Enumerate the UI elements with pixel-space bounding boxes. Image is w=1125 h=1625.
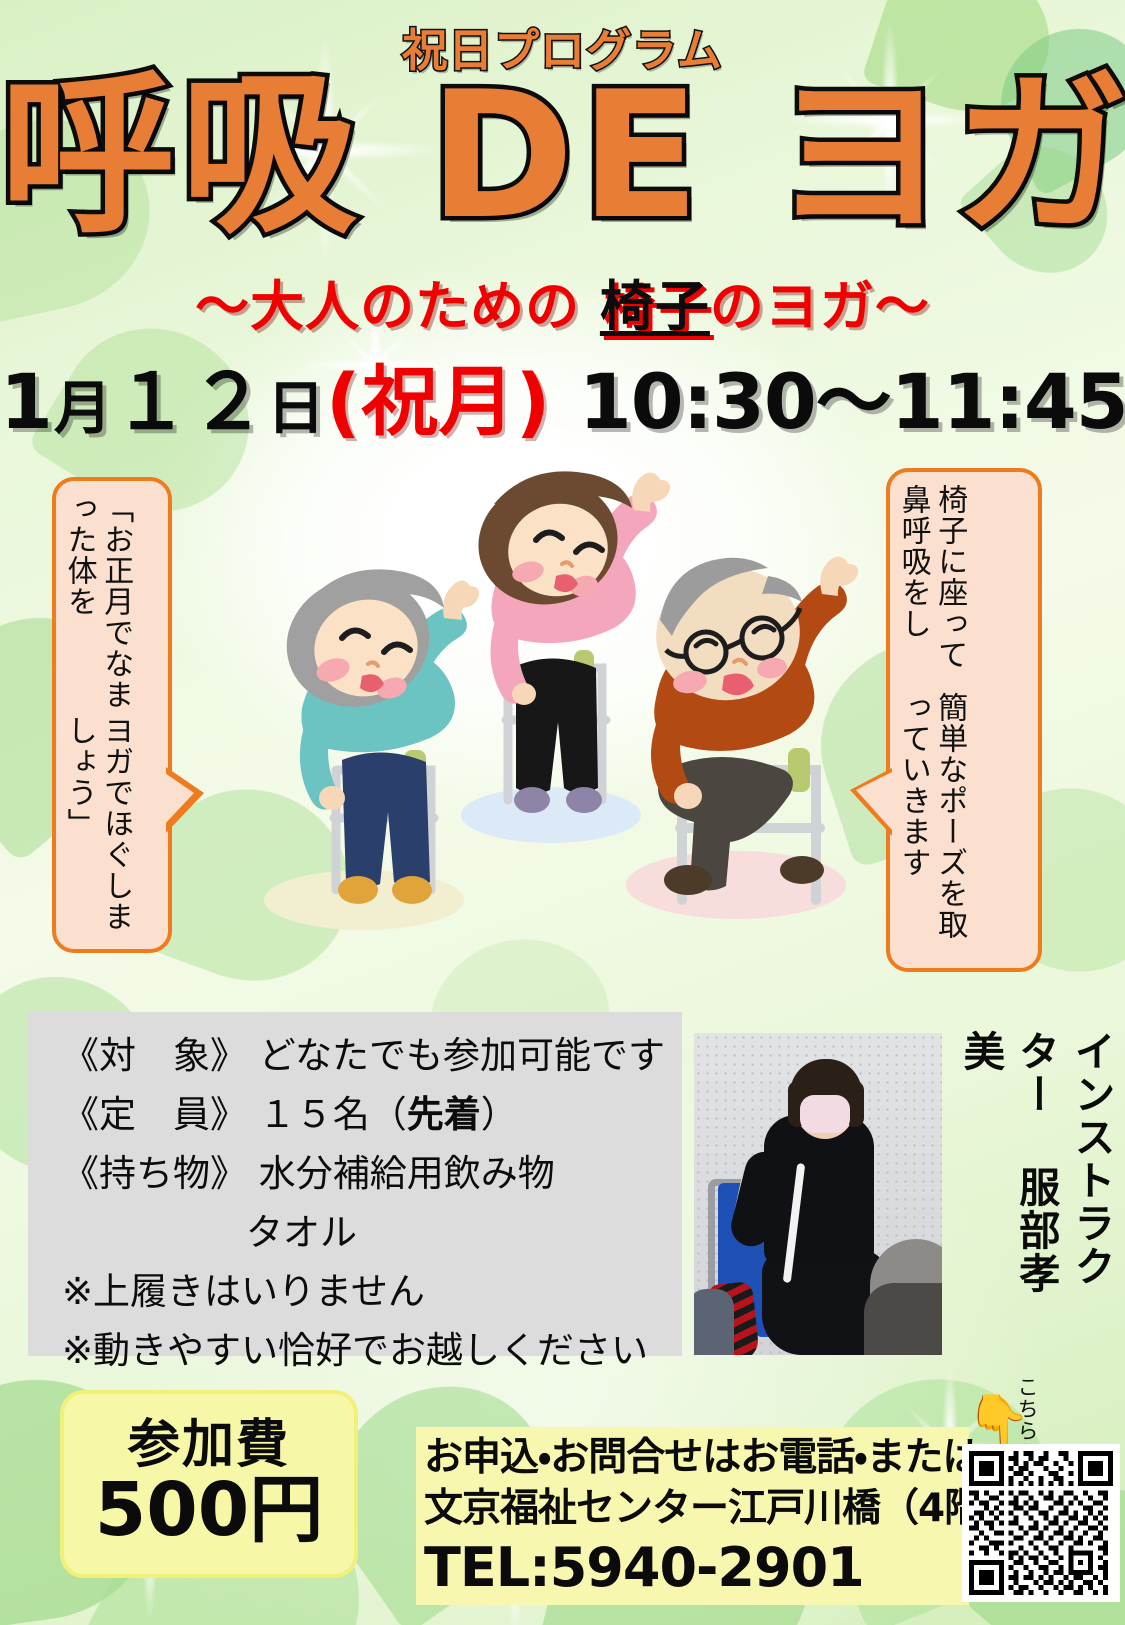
event-month-unit: 月: [54, 374, 113, 442]
chair-yoga-illustration: [216, 470, 892, 970]
speech-bubble-left-text: 「お正月でなまった体を ヨガでほぐしましょう」: [56, 481, 139, 949]
fee-value: 500円: [95, 1472, 323, 1550]
event-day-unit: 日: [267, 374, 326, 442]
instructor-caption: インストラクター 服部孝美: [952, 1030, 1118, 1330]
qr-code[interactable]: [962, 1444, 1120, 1602]
person-center: [465, 470, 670, 813]
info-value-capacity-tail: ）: [481, 1093, 518, 1136]
info-row-bring: 《持ち物》 水分補給用飲み物: [28, 1144, 682, 1203]
info-label-bring: 《持ち物》: [62, 1152, 247, 1195]
person-left: [270, 559, 479, 904]
info-note-2: ※動きやすい恰好でお越しください: [28, 1321, 682, 1380]
info-note-1: ※上履きはいりません: [28, 1262, 682, 1321]
subtitle-emphasis: 椅子: [600, 275, 710, 338]
info-row-target: 《対 象》 どなたでも参加可能です: [28, 1026, 682, 1085]
info-row-capacity: 《定 員》 １５名（先着）: [28, 1085, 682, 1144]
speech-bubble-right: 椅子に座って鼻呼吸をし 簡単なポーズを取っていきます: [886, 468, 1042, 972]
speech-bubble-left-tail: [166, 767, 204, 833]
event-time: 10:30〜11:45: [579, 357, 1125, 446]
info-label-capacity: 《定 員》: [62, 1093, 247, 1136]
fee-label: 参加費: [128, 1418, 290, 1473]
info-label-target: 《対 象》: [62, 1034, 247, 1077]
person-right: [646, 556, 859, 900]
contact-line-2: 文京福祉センター江戸川橋（4階）: [424, 1484, 969, 1535]
info-value-capacity-bold: 先着: [407, 1093, 481, 1136]
contact-phone: TEL:5940-2901: [424, 1534, 969, 1602]
event-day: １２: [113, 357, 267, 446]
info-row-bring-2: タオル: [28, 1203, 682, 1262]
subtitle: 〜大人のための 椅子のヨガ〜: [0, 262, 1125, 341]
event-month: 1: [0, 357, 54, 446]
photo-face-mask: [800, 1095, 850, 1133]
instructor-photo: [694, 1033, 942, 1355]
photo-audience-2: [694, 1289, 734, 1355]
bubble-left-col-2: ヨガでほぐしましょう」: [60, 715, 133, 937]
info-value-bring: 水分補給用飲み物: [259, 1152, 555, 1195]
bubble-right-col-2: 簡単なポーズを取っていきます: [894, 692, 967, 956]
fee-box: 参加費 500円: [60, 1390, 358, 1578]
speech-bubble-right-text: 椅子に座って鼻呼吸をし 簡単なポーズを取っていきます: [890, 472, 973, 968]
info-value-target: どなたでも参加可能です: [259, 1034, 665, 1077]
bubble-left-col-1: 「お正月でなまった体を: [60, 493, 133, 715]
subtitle-part-2: のヨガ〜: [710, 275, 930, 338]
info-value-capacity: １５名（: [259, 1093, 407, 1136]
bubble-right-col-1: 椅子に座って鼻呼吸をし: [894, 484, 967, 692]
chair-yoga-svg: [216, 470, 892, 970]
contact-box: お申込・お問合せはお電話・または 文京福祉センター江戸川橋（4階） TEL:59…: [416, 1427, 969, 1605]
photo-audience-body: [864, 1283, 942, 1355]
contact-line-1: お申込・お問合せはお電話・または: [424, 1433, 969, 1484]
event-info-box: 《対 象》 どなたでも参加可能です 《定 員》 １５名（先着） 《持ち物》 水分…: [28, 1012, 682, 1356]
page-title: 呼吸 DE ヨガ: [0, 62, 1125, 251]
subtitle-part-1: 〜大人のための: [195, 275, 600, 338]
event-date-time: 1月１２日(祝月) 10:30〜11:45: [0, 340, 1125, 450]
speech-bubble-left: 「お正月でなまった体を ヨガでほぐしましょう」: [52, 477, 172, 953]
poster-root: 祝日プログラム 呼吸 DE ヨガ 〜大人のための 椅子のヨガ〜 1月１２日(祝月…: [0, 0, 1125, 1625]
event-weekday: (祝月): [326, 357, 551, 446]
qr-code-svg: [969, 1451, 1113, 1595]
